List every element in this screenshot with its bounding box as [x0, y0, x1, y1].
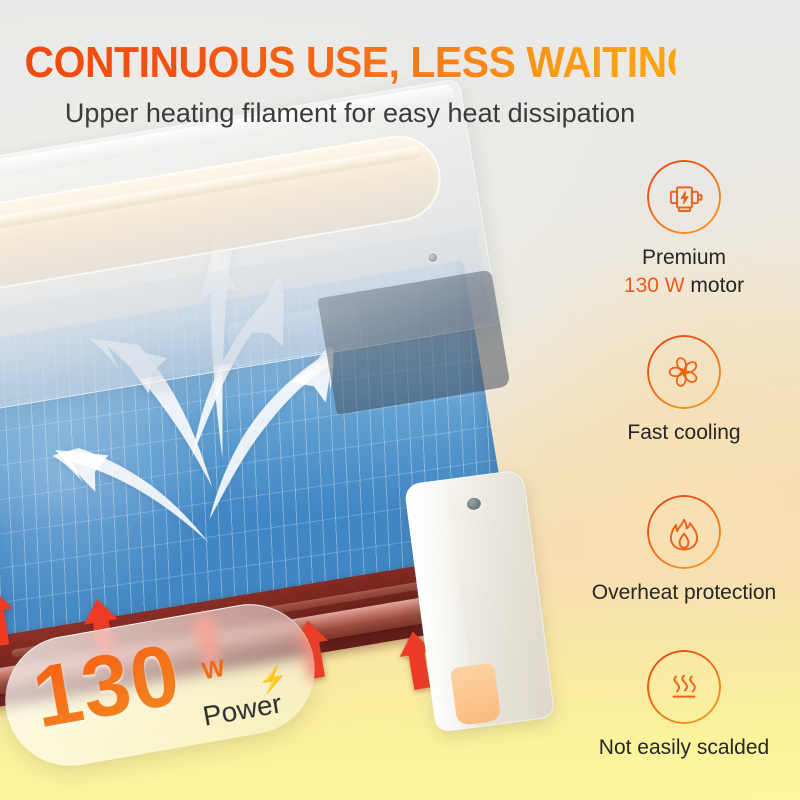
marketing-banner: CONTINUOUS USE, LESS WAITING Upper heati…: [0, 0, 800, 800]
feature-label-line1: Premium: [568, 244, 800, 272]
flame-icon-ring: [647, 495, 721, 569]
feature-label: Overheat protection: [568, 579, 800, 607]
feature-label-rest: motor: [685, 274, 745, 297]
power-badge-value: 130: [27, 631, 186, 741]
feature-label: Premium 130 W motor: [568, 244, 800, 300]
feature-label-line1: Not easily scalded: [568, 734, 800, 762]
feature-label-line1: Fast cooling: [568, 419, 800, 447]
feature-label-highlight: 130 W: [624, 274, 685, 297]
page-title: CONTINUOUS USE, LESS WAITING: [25, 38, 676, 88]
flame-icon: [663, 511, 705, 553]
heat-waves-icon: [663, 666, 705, 708]
feature-item-overheat-protection: Overheat protection: [568, 495, 800, 607]
motor-icon-ring: [647, 160, 721, 234]
feature-item-premium-motor: Premium 130 W motor: [568, 160, 800, 300]
power-badge-unit: W: [200, 655, 227, 687]
fan-icon-ring: [647, 335, 721, 409]
feature-label-line1: Overheat protection: [568, 579, 800, 607]
feature-label-line2: 130 W motor: [568, 272, 800, 300]
feature-label: Not easily scalded: [568, 734, 800, 762]
feature-item-fast-cooling: Fast cooling: [568, 335, 800, 447]
fan-icon: [663, 351, 705, 393]
feature-item-not-easily-scalded: Not easily scalded: [568, 650, 800, 762]
heat-waves-icon-ring: [647, 650, 721, 724]
feature-label: Fast cooling: [568, 419, 800, 447]
end-cap-accent: [450, 663, 501, 726]
motor-icon: [663, 176, 705, 218]
page-subtitle: Upper heating filament for easy heat dis…: [0, 96, 700, 130]
